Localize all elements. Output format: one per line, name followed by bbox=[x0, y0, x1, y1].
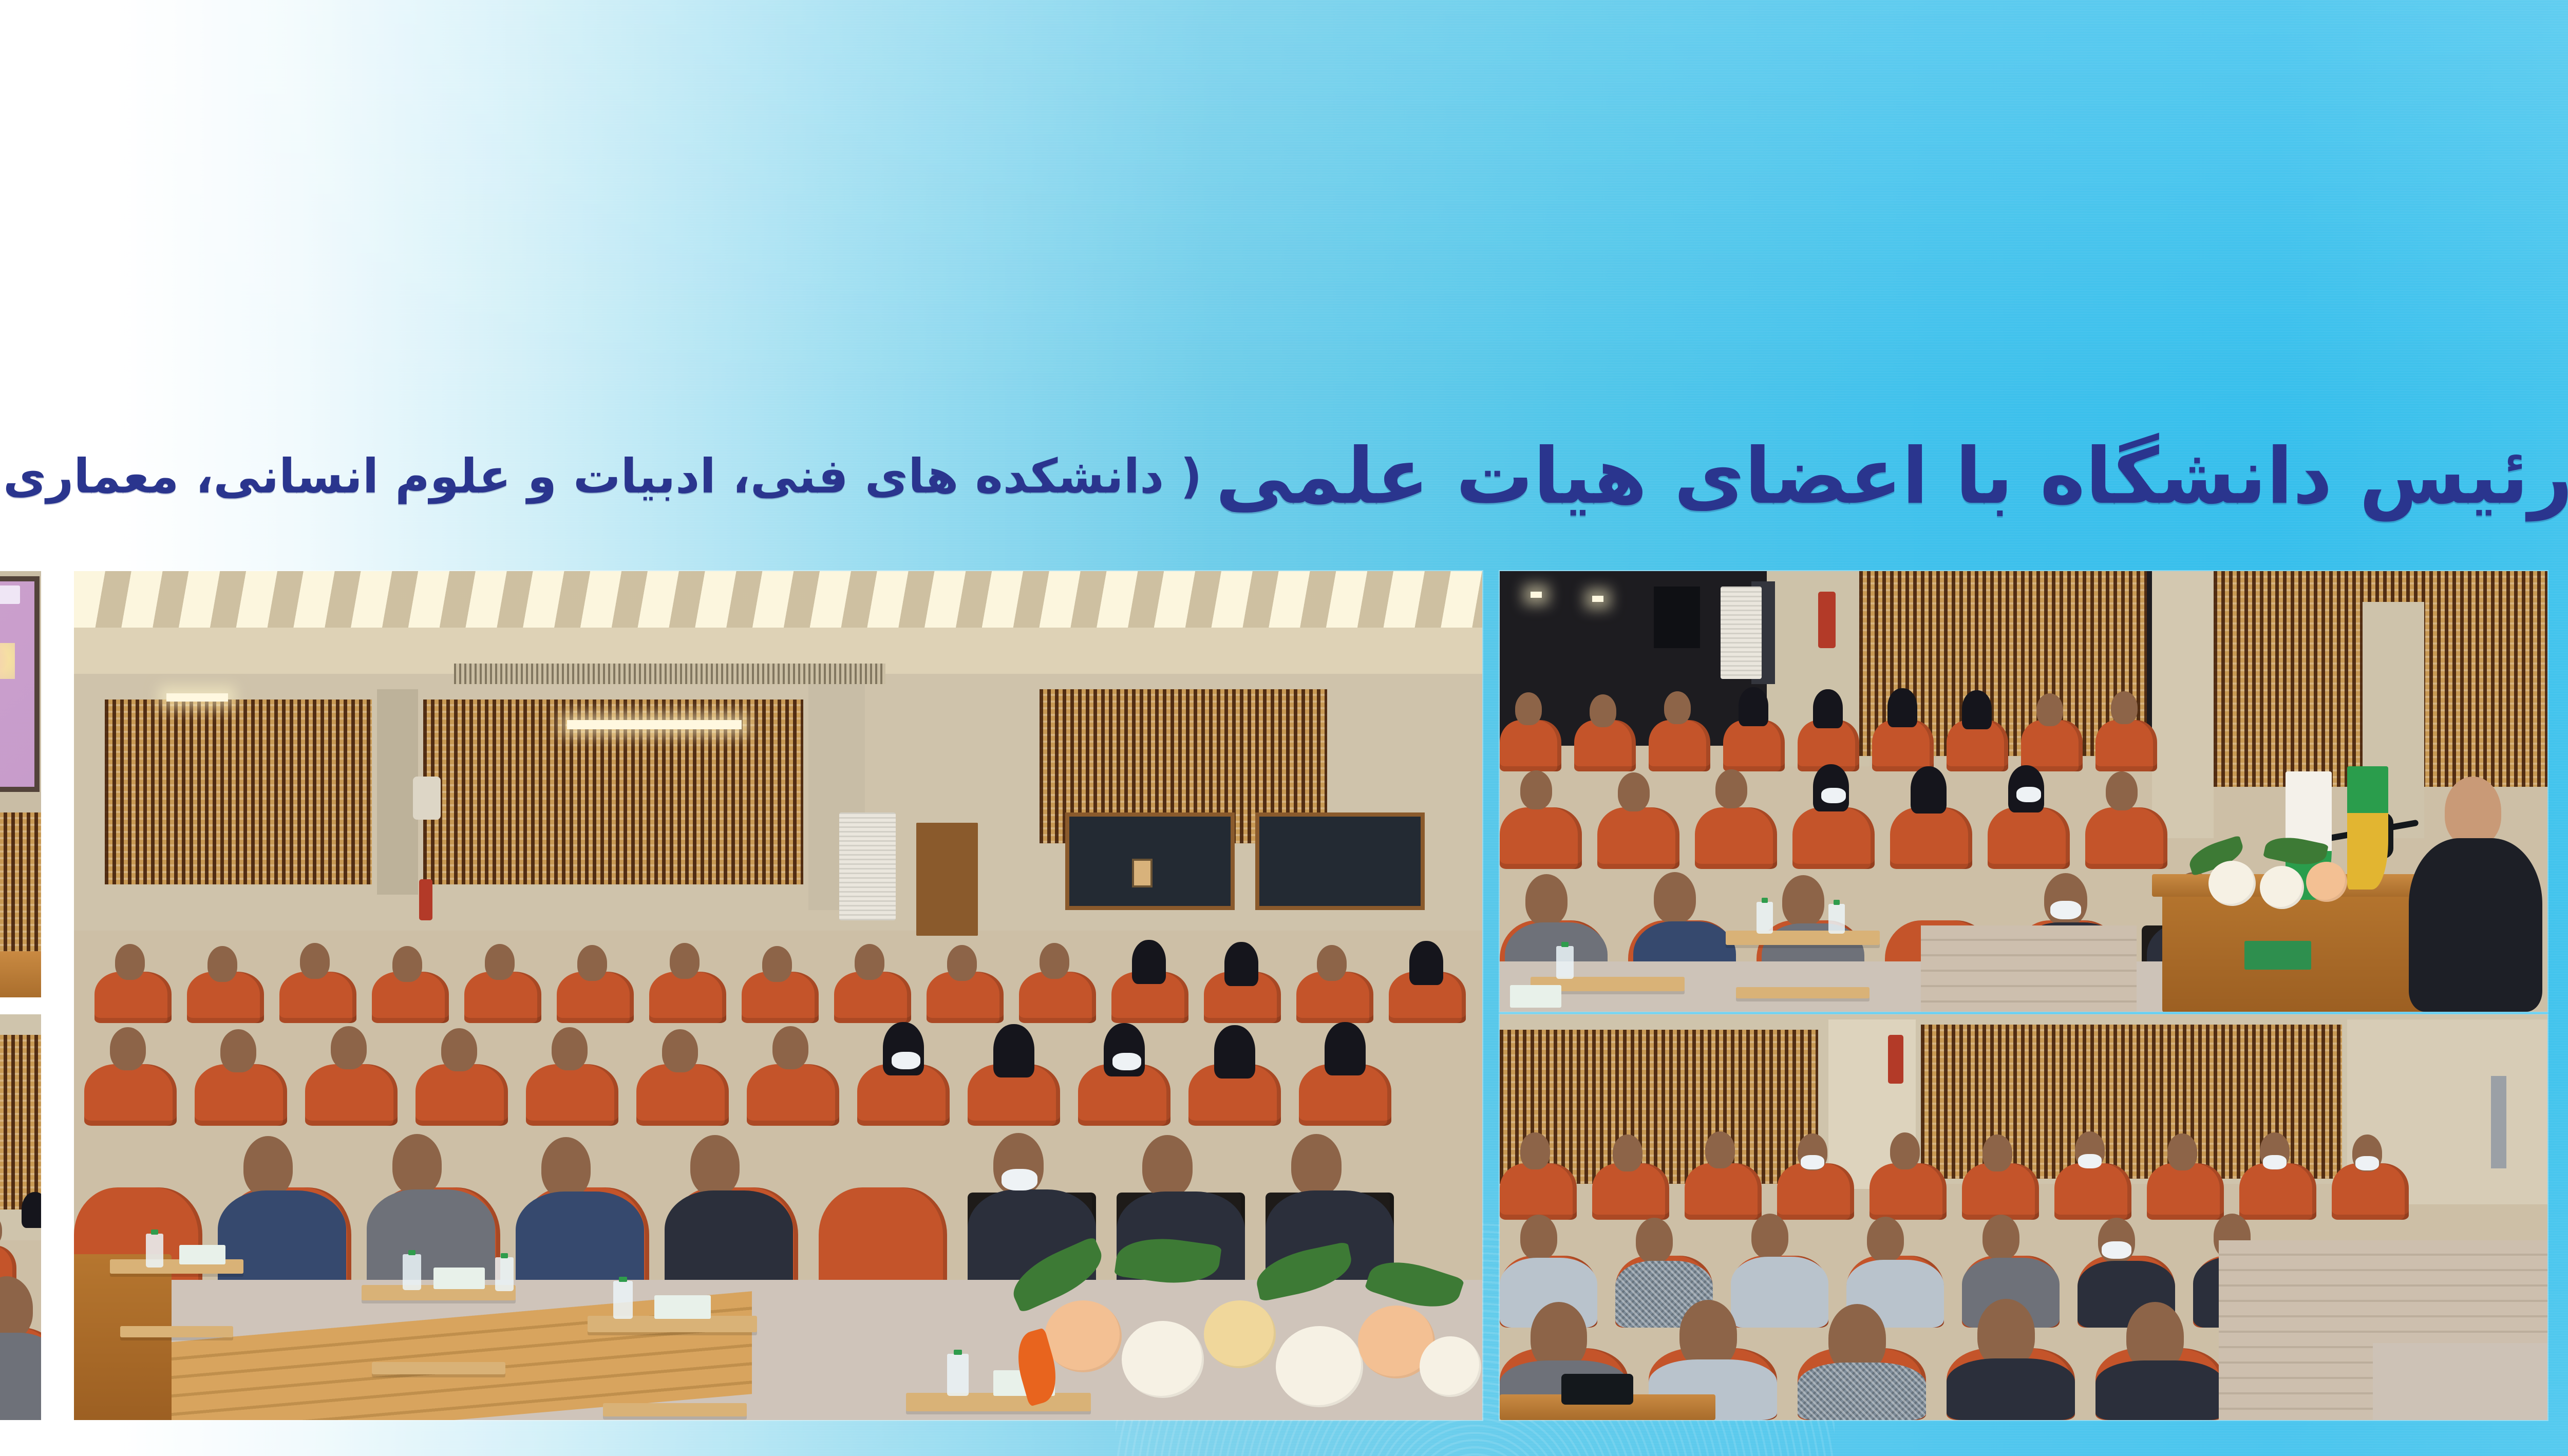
photo-audience-front-rows[interactable] bbox=[1500, 1014, 2547, 1420]
headline-subtitle: ( دانشکده های فنی، ادبیات و علوم انسانی،… bbox=[0, 453, 1202, 500]
event-banner: دانشگاه گیلان روابط عمومی دانشگاه گیلان … bbox=[0, 0, 2568, 1456]
photo-speaker-podium[interactable] bbox=[0, 571, 41, 997]
photo-audience-and-speaker[interactable] bbox=[1500, 571, 2547, 1012]
photo-hall-wide[interactable] bbox=[74, 571, 1482, 1420]
photo-audience-left-rows[interactable] bbox=[0, 1014, 41, 1420]
headline-main: نشست هم اندیشی رئیس دانشگاه با اعضای هیا… bbox=[1215, 438, 2568, 515]
headline-row: نشست هم اندیشی رئیس دانشگاه با اعضای هیا… bbox=[0, 421, 2568, 532]
